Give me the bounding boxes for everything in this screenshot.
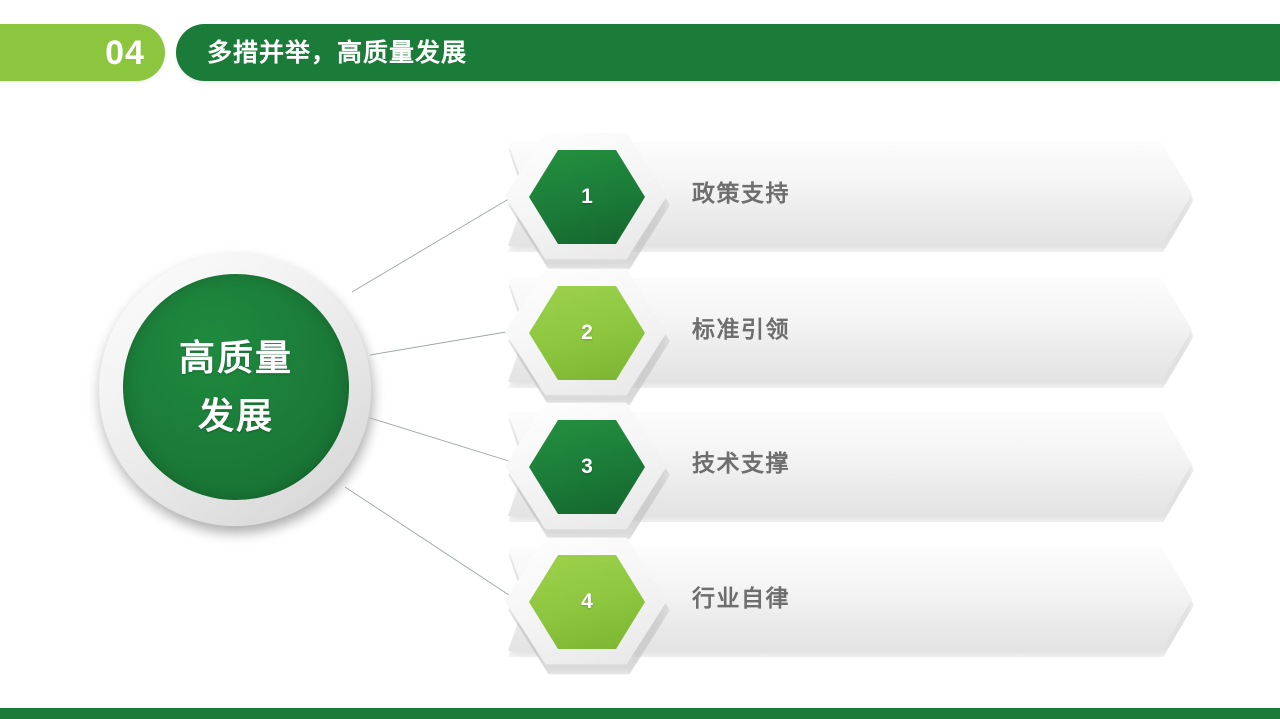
list-item[interactable]: 行业自律 4	[500, 531, 1200, 665]
hexagon-number-4: 4	[529, 555, 645, 649]
list-item[interactable]: 技术支撑 3	[500, 396, 1200, 530]
center-label-line1: 高质量	[179, 338, 293, 378]
hexagon-number-3: 3	[529, 420, 645, 514]
slide: 04 多措并举，高质量发展 高质量 发展 政策支持 1 标准引领 2	[0, 0, 1280, 719]
list-item[interactable]: 标准引领 2	[500, 262, 1200, 396]
header-section-number: 04	[90, 35, 160, 71]
banner-label-4: 行业自律	[692, 583, 790, 613]
list-item[interactable]: 政策支持 1	[500, 126, 1200, 260]
center-node[interactable]: 高质量 发展	[97, 252, 379, 534]
center-label-line2: 发展	[198, 396, 274, 436]
banner-label-2: 标准引领	[692, 314, 790, 344]
footer-accent-bar	[0, 708, 1280, 719]
center-label: 高质量 发展	[123, 274, 349, 500]
hexagon-number-2: 2	[529, 286, 645, 380]
banner-label-1: 政策支持	[692, 178, 790, 208]
connector-line-3	[370, 418, 512, 462]
banner-label-3: 技术支撑	[692, 448, 790, 478]
hexagon-number-1: 1	[529, 150, 645, 244]
page-title: 多措并举，高质量发展	[207, 38, 467, 68]
connector-line-2	[370, 331, 512, 355]
